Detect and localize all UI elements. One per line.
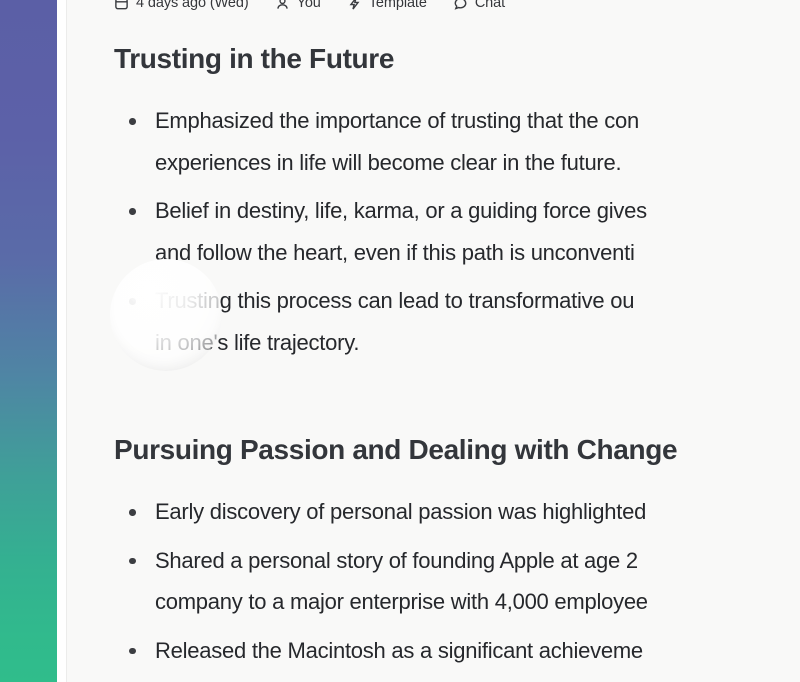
bullet-line-2: and follow the heart, even if this path … <box>155 232 800 274</box>
list-item[interactable]: Released the Macintosh as a significant … <box>114 630 800 672</box>
bullet-line-1: Shared a personal story of founding Appl… <box>155 548 638 573</box>
section-title-passion: Pursuing Passion and Dealing with Change <box>114 432 800 467</box>
meta-item-author[interactable]: You <box>275 0 321 11</box>
chat-icon <box>453 0 468 11</box>
bullet-line-1: Early discovery of personal passion was … <box>155 499 646 524</box>
list-item[interactable]: Trusting this process can lead to transf… <box>114 280 800 363</box>
bullet-line-1: Belief in destiny, life, karma, or a gui… <box>155 198 647 223</box>
spacer-after-title-1 <box>114 76 800 100</box>
note-meta-bar: 4 days ago (Wed) You Template <box>67 0 800 13</box>
left-gradient-rail <box>0 0 57 682</box>
bullet-line-1: Trusting this process can lead to transf… <box>155 288 634 313</box>
bullet-line-1: Emphasized the importance of trusting th… <box>155 108 639 133</box>
list-item[interactable]: Belief in destiny, life, karma, or a gui… <box>114 190 800 273</box>
bullet-line-2: in one's life trajectory. <box>155 322 800 364</box>
meta-label-author: You <box>297 0 321 11</box>
list-item[interactable]: Early discovery of personal passion was … <box>114 491 800 533</box>
bullet-list-trusting: Emphasized the importance of trusting th… <box>114 100 800 363</box>
meta-item-template[interactable]: Template <box>347 0 427 11</box>
meta-item-date[interactable]: 4 days ago (Wed) <box>114 0 249 11</box>
app-root: 4 days ago (Wed) You Template <box>0 0 800 682</box>
list-item[interactable]: Emphasized the importance of trusting th… <box>114 100 800 183</box>
meta-item-chat[interactable]: Chat <box>453 0 505 11</box>
note-card: 4 days ago (Wed) You Template <box>66 0 800 682</box>
spacer-between-sections <box>114 370 800 432</box>
bullet-list-passion: Early discovery of personal passion was … <box>114 491 800 671</box>
meta-label-chat: Chat <box>475 0 505 11</box>
bullet-line-2: experiences in life will become clear in… <box>155 142 800 184</box>
template-icon <box>347 0 362 11</box>
rail-gap <box>57 0 66 682</box>
section-title-trusting: Trusting in the Future <box>114 41 800 76</box>
calendar-icon <box>114 0 129 11</box>
meta-label-date: 4 days ago (Wed) <box>136 0 249 11</box>
person-icon <box>275 0 290 11</box>
list-item[interactable]: Shared a personal story of founding Appl… <box>114 540 800 623</box>
bullet-line-1: Released the Macintosh as a significant … <box>155 638 643 663</box>
bullet-line-2: company to a major enterprise with 4,000… <box>155 581 800 623</box>
spacer-after-title-2 <box>114 467 800 491</box>
note-content: Trusting in the Future Emphasized the im… <box>67 15 800 678</box>
meta-label-template: Template <box>369 0 427 11</box>
spacer-top <box>114 15 800 41</box>
